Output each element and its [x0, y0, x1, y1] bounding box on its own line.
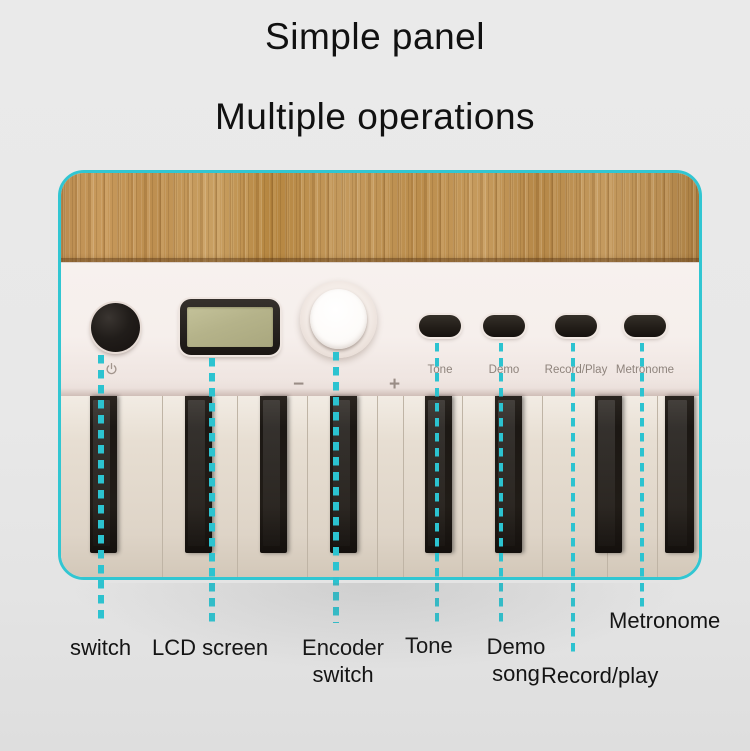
callout-line-switch	[98, 355, 104, 623]
record-play-button[interactable]	[555, 315, 597, 337]
callout-label-metronome-text: Metronome	[609, 608, 720, 633]
demo-button[interactable]	[483, 315, 525, 337]
page-title-line-2: Multiple operations	[0, 96, 750, 138]
callout-line-demo-song	[499, 343, 503, 628]
callout-line-lcd-screen	[209, 358, 215, 623]
black-key[interactable]	[665, 396, 694, 553]
lcd-screen	[180, 299, 280, 355]
page-title-line-1: Simple panel	[0, 16, 750, 58]
callout-label-metronome: Metronome	[609, 608, 720, 635]
callout-label-tone-text: Tone	[405, 633, 453, 658]
metronome-button[interactable]	[624, 315, 666, 337]
encoder-knob[interactable]	[300, 281, 377, 358]
tone-button[interactable]	[419, 315, 461, 337]
callout-label-demo-song: Demo song	[485, 634, 547, 688]
callout-label-encoder-text: Encoder	[297, 635, 389, 662]
callout-label-record-play: Record/play	[541, 663, 658, 690]
callout-label-switch-text: switch	[70, 635, 131, 660]
piano-keyboard	[61, 396, 699, 580]
callout-label-lcd-screen: LCD screen	[152, 635, 268, 662]
callout-line-metronome	[640, 343, 644, 611]
callout-label-encoder-text2: switch	[297, 662, 389, 689]
callout-label-demo-song-text2: song	[485, 661, 547, 688]
plus-icon[interactable]: +	[389, 375, 400, 394]
demo-button-label: Demo	[489, 364, 520, 376]
callout-label-record-play-text: Record/play	[541, 663, 658, 688]
black-key[interactable]	[260, 396, 287, 553]
metronome-button-label: Metronome	[616, 364, 674, 376]
white-key[interactable]	[378, 396, 404, 580]
power-icon	[104, 362, 119, 377]
callout-label-lcd-screen-text: LCD screen	[152, 635, 268, 660]
wood-lid	[61, 173, 699, 262]
digital-piano-device: − + Tone Demo Record/Play Metronome	[58, 170, 702, 580]
encoder-knob-face	[310, 289, 367, 349]
record-play-button-label: Record/Play	[545, 364, 608, 376]
callout-line-tone	[435, 343, 439, 623]
callout-line-record-play	[571, 343, 575, 653]
minus-icon[interactable]: −	[293, 375, 304, 394]
power-button[interactable]	[91, 303, 140, 352]
callout-label-switch: switch	[70, 635, 131, 662]
lcd-display	[187, 307, 273, 347]
black-key[interactable]	[185, 396, 212, 553]
tone-button-label: Tone	[428, 364, 453, 376]
callout-label-demo-song-text: Demo	[485, 634, 547, 661]
black-key[interactable]	[595, 396, 622, 553]
control-panel: − + Tone Demo Record/Play Metronome	[61, 263, 699, 396]
callout-label-tone: Tone	[405, 633, 453, 660]
callout-line-encoder	[333, 352, 339, 623]
callout-label-encoder: Encoder switch	[297, 635, 389, 689]
